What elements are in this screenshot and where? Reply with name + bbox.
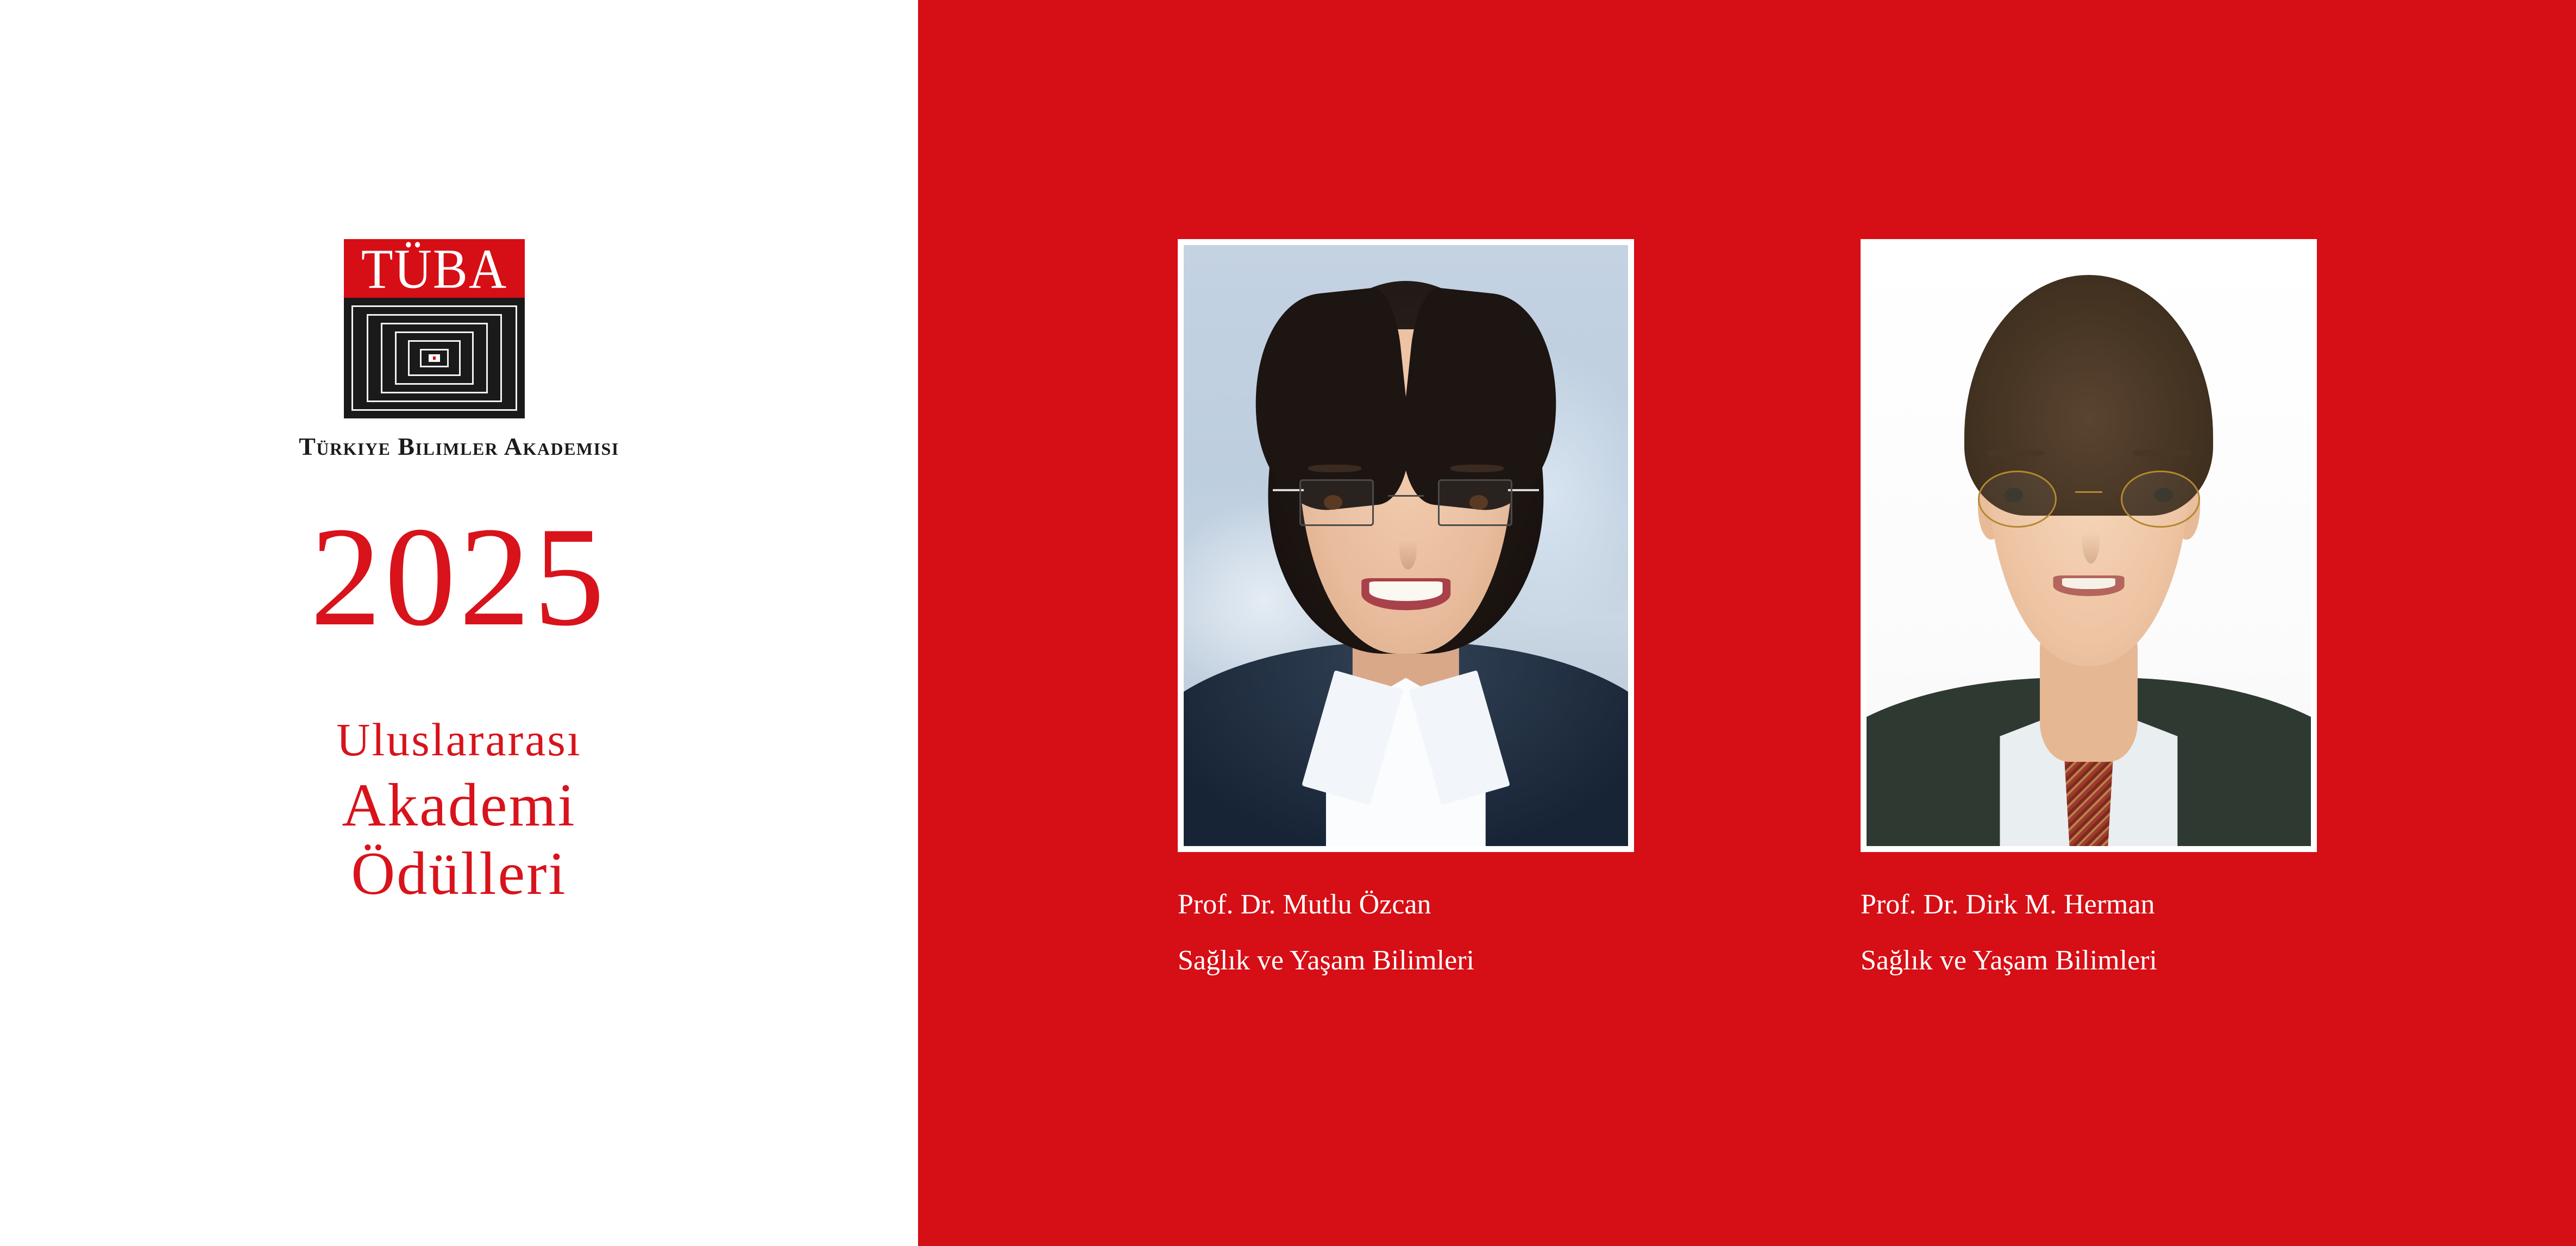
tuba-wordmark-block: TÜBA [344,239,525,298]
academy-subtitle: Türkiye Bilimler Akademisi [0,432,918,461]
award-title-line-3: Ödülleri [0,843,918,904]
laureate-field: Sağlık ve Yaşam Bilimleri [1178,945,1634,976]
right-laureates-panel [918,0,2576,1246]
laureate-card: Prof. Dr. Mutlu Özcan Sağlık ve Yaşam Bi… [1178,239,1634,976]
portrait-dirk-m-herman [1867,245,2311,846]
award-year: 2025 [0,505,918,648]
tuba-logo: TÜBA [344,239,525,418]
laureate-card: Prof. Dr. Dirk M. Herman Sağlık ve Yaşam… [1861,239,2317,976]
award-title: Uluslararası Akademi Ödülleri [0,716,918,904]
tuba-wordmark-text: TÜBA [361,241,507,297]
award-title-line-2: Akademi [0,775,918,836]
laureate-name: Prof. Dr. Mutlu Özcan [1178,889,1634,920]
laureate-name: Prof. Dr. Dirk M. Herman [1861,889,2317,920]
tuba-maze-logo-icon [344,298,525,418]
laureate-photo-frame [1861,239,2317,852]
laureate-field: Sağlık ve Yaşam Bilimleri [1861,945,2317,976]
left-branding-panel: TÜBA Türkiye Bilimler Akademisi 2025 Ulu… [0,0,918,1246]
award-title-line-1: Uluslararası [0,716,918,763]
laureate-photo-frame [1178,239,1634,852]
award-poster: TÜBA Türkiye Bilimler Akademisi 2025 Ulu… [0,0,2576,1246]
portrait-mutlu-ozcan [1184,245,1628,846]
